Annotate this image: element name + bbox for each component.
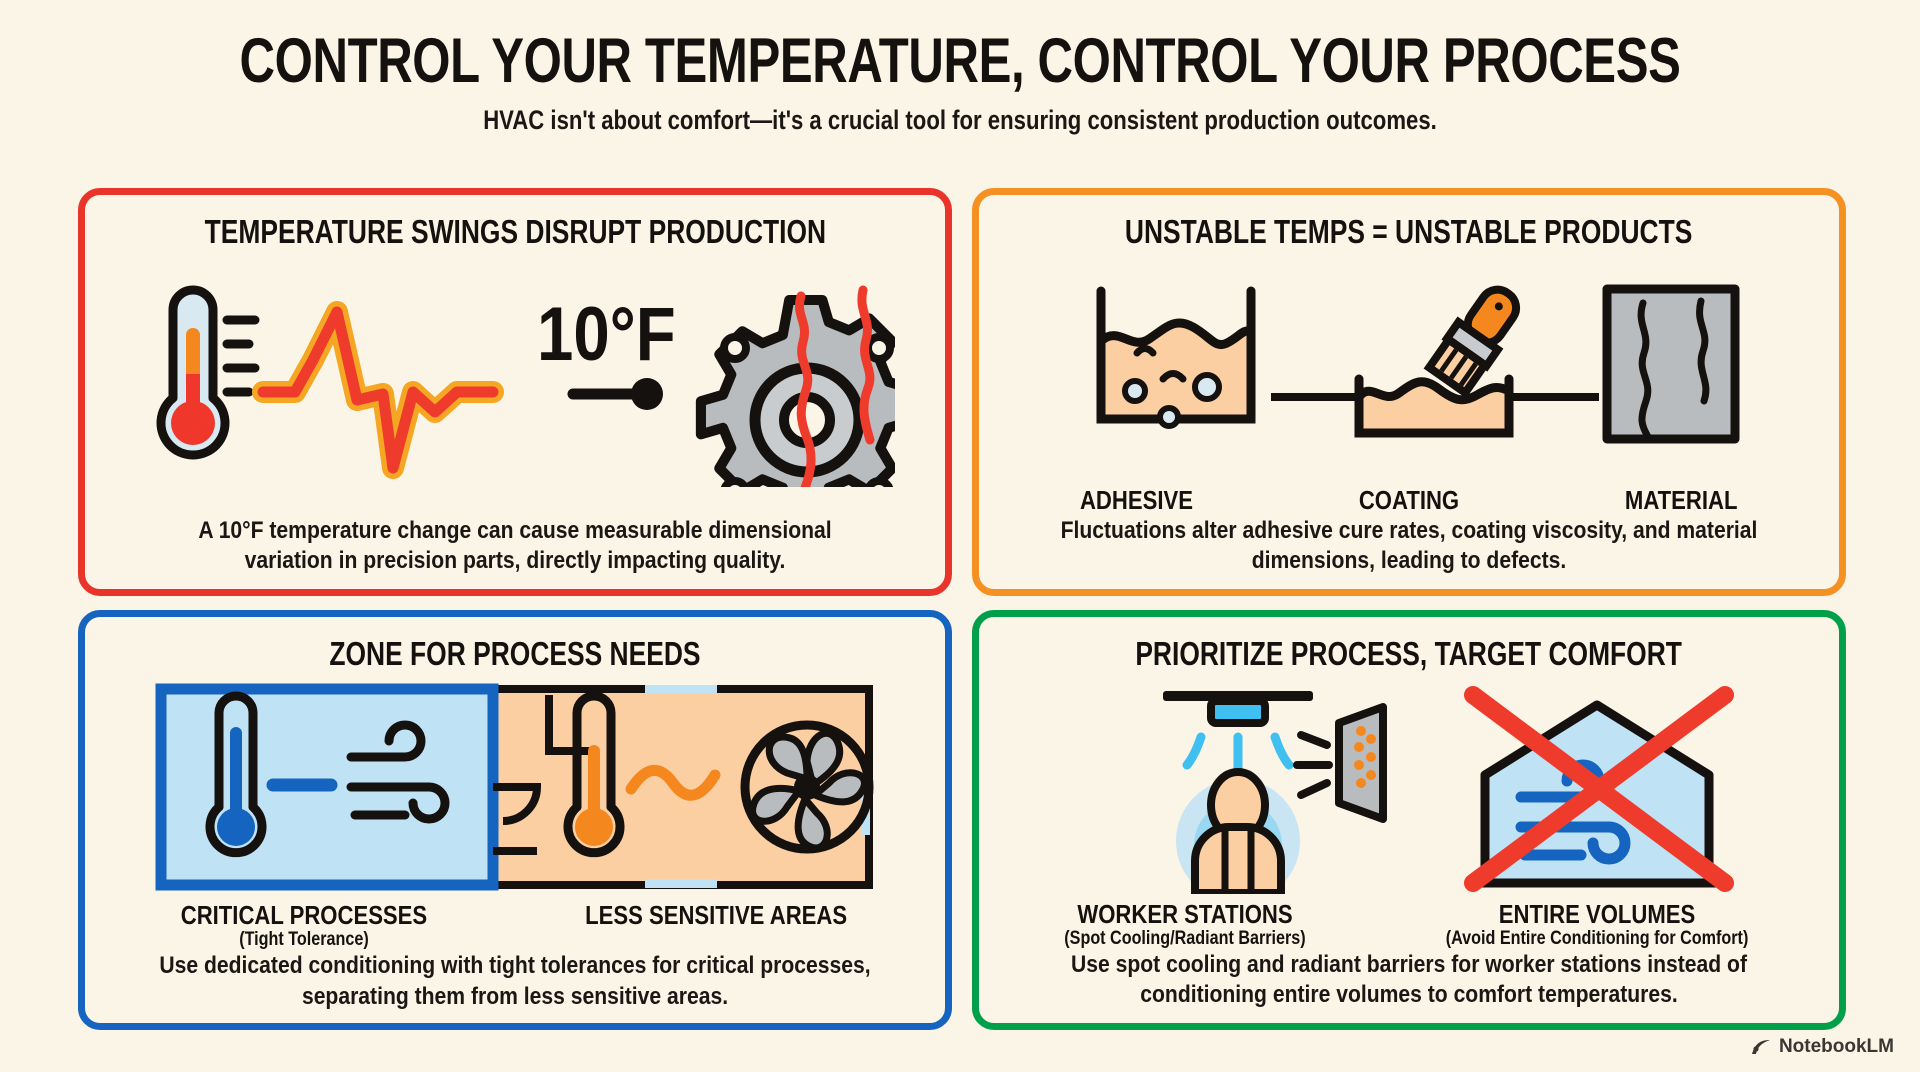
card-temperature-swings: TEMPERATURE SWINGS DISRUPT PRODUCTION bbox=[78, 188, 952, 596]
label-coating: COATING bbox=[1359, 485, 1459, 516]
card-4-labels: WORKER STATIONS (Spot Cooling/Radiant Ba… bbox=[997, 899, 1821, 950]
card-2-artwork bbox=[997, 253, 1821, 485]
card-unstable-temps: UNSTABLE TEMPS = UNSTABLE PRODUCTS bbox=[972, 188, 1846, 596]
card-caption: A 10°F temperature change can cause meas… bbox=[152, 516, 877, 579]
zone-label-critical: CRITICAL PROCESSES (Tight Tolerance) bbox=[159, 900, 449, 951]
card-caption: Use dedicated conditioning with tight to… bbox=[152, 951, 877, 1014]
watermark: NotebookLM bbox=[1750, 1036, 1894, 1058]
card-caption: Use spot cooling and radiant barriers fo… bbox=[1046, 950, 1771, 1013]
page-title: CONTROL YOUR TEMPERATURE, CONTROL YOUR P… bbox=[211, 30, 1709, 93]
temperature-swing-illustration: 10°F bbox=[135, 282, 895, 487]
card-1-artwork: 10°F bbox=[103, 253, 927, 516]
waveform-spike-icon bbox=[263, 312, 493, 468]
card-title: PRIORITIZE PROCESS, TARGET COMFORT bbox=[1136, 635, 1683, 673]
arrow-connector-icon bbox=[573, 378, 663, 410]
card-caption: Fluctuations alter adhesive cure rates, … bbox=[1046, 516, 1771, 579]
cracked-gear-icon bbox=[701, 290, 895, 487]
card-4-artwork bbox=[997, 675, 1821, 899]
floorplan-zone-illustration bbox=[145, 675, 885, 900]
material-slab-icon bbox=[1607, 289, 1735, 439]
card-title: UNSTABLE TEMPS = UNSTABLE PRODUCTS bbox=[1125, 213, 1692, 251]
adhesive-beaker-icon bbox=[1101, 291, 1251, 426]
card-3-artwork bbox=[103, 675, 927, 900]
header: CONTROL YOUR TEMPERATURE, CONTROL YOUR P… bbox=[0, 0, 1920, 136]
watermark-label: NotebookLM bbox=[1779, 1036, 1894, 1058]
radiant-barrier-icon bbox=[1297, 707, 1383, 819]
label-material: MATERIAL bbox=[1625, 485, 1738, 516]
option-label-entire-volumes: ENTIRE VOLUMES (Avoid Entire Conditionin… bbox=[1419, 899, 1775, 950]
temp-delta-label: 10°F bbox=[537, 292, 676, 377]
warehouse-crossed-icon bbox=[1469, 695, 1727, 883]
zone-label-less-sensitive: LESS SENSITIVE AREAS bbox=[562, 900, 870, 951]
card-zone-for-process: ZONE FOR PROCESS NEEDS bbox=[78, 610, 952, 1030]
thermometer-hot-icon bbox=[161, 290, 255, 455]
product-chain-illustration bbox=[1059, 279, 1759, 459]
card-2-labels: ADHESIVE COATING MATERIAL bbox=[997, 485, 1821, 516]
infographic-page: CONTROL YOUR TEMPERATURE, CONTROL YOUR P… bbox=[0, 0, 1920, 1072]
paint-brush-icon bbox=[1359, 279, 1528, 432]
label-adhesive: ADHESIVE bbox=[1080, 485, 1193, 516]
comfort-strategy-illustration bbox=[1039, 679, 1779, 894]
option-label-worker-stations: WORKER STATIONS (Spot Cooling/Radiant Ba… bbox=[1043, 899, 1327, 950]
card-prioritize-process: PRIORITIZE PROCESS, TARGET COMFORT bbox=[972, 610, 1846, 1030]
worker-spot-cooling-icon bbox=[1163, 691, 1383, 894]
card-grid: TEMPERATURE SWINGS DISRUPT PRODUCTION bbox=[78, 188, 1846, 1033]
card-title: ZONE FOR PROCESS NEEDS bbox=[329, 635, 700, 673]
page-subtitle: HVAC isn't about comfort—it's a crucial … bbox=[173, 105, 1747, 136]
notebooklm-logo-icon bbox=[1750, 1038, 1772, 1056]
card-title: TEMPERATURE SWINGS DISRUPT PRODUCTION bbox=[204, 213, 825, 251]
card-3-labels: CRITICAL PROCESSES (Tight Tolerance) LES… bbox=[103, 900, 927, 951]
